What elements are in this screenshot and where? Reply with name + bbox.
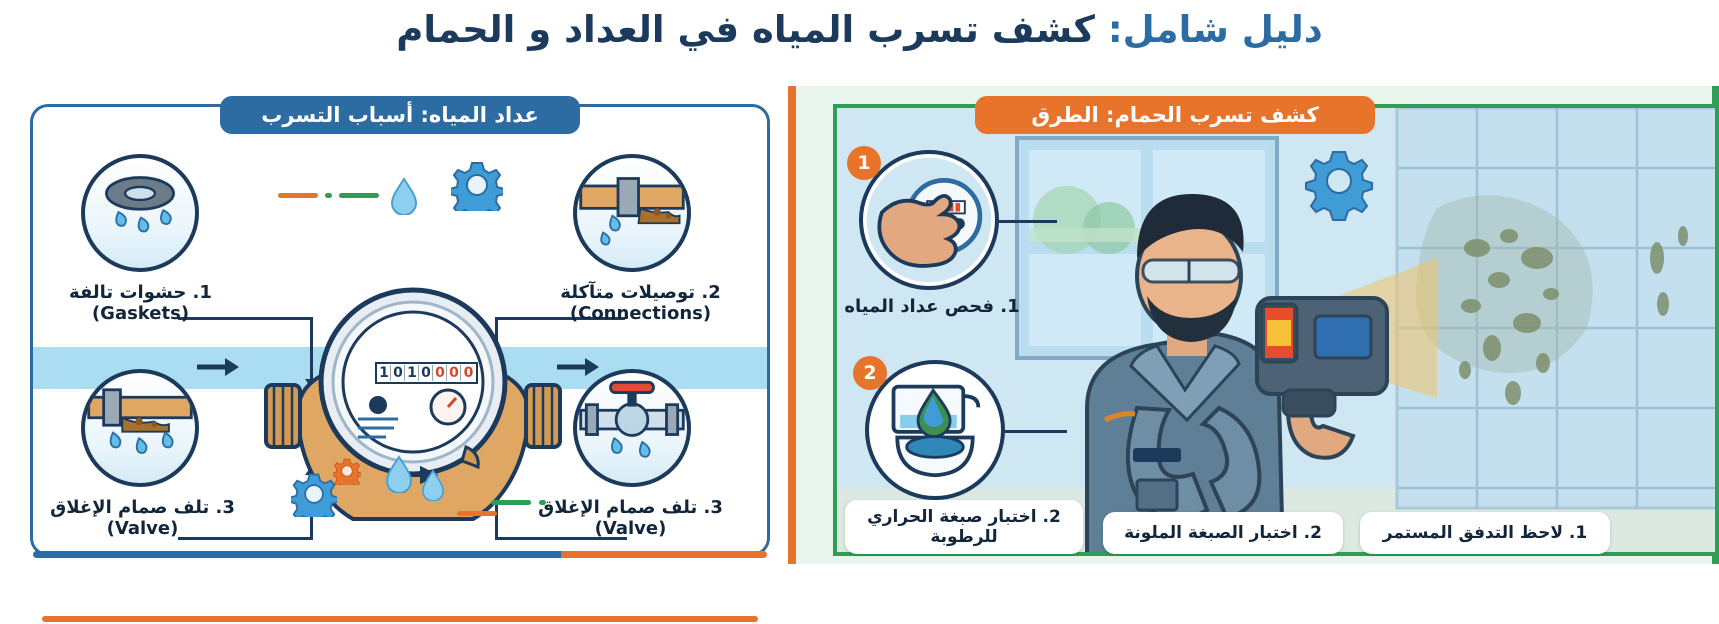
meter-causes-panel: 1 0 1 0 0 0 0 1. حشوات تالفة (Gaskets) xyxy=(30,104,770,556)
icon-bubble-connections xyxy=(573,154,691,272)
connector-step1 xyxy=(999,220,1057,223)
step-badge-2-text: 2 xyxy=(863,362,876,384)
odometer-digit: 0 xyxy=(462,365,475,381)
accent-bar-blue xyxy=(33,551,561,558)
gear-icon-right-panel xyxy=(1306,152,1372,220)
caption-connections-ar: 2. توصيلات متآكلة xyxy=(553,282,728,303)
caption-valve-left: 3. تلف صمام الإغلاق (Valve) xyxy=(35,497,250,539)
odometer-digit: 0 xyxy=(448,365,461,381)
left-panel-header-text: عداد المياه: أسباب التسرب xyxy=(261,103,538,127)
icon-bubble-gaskets xyxy=(81,154,199,272)
caption-connections: 2. توصيلات متآكلة (Connections) xyxy=(553,282,728,324)
caption-valve-left-ar: 3. تلف صمام الإغلاق xyxy=(35,497,250,518)
right-panel-header: كشف تسرب الحمام: الطرق xyxy=(975,96,1375,134)
hand-meter-icon xyxy=(863,154,995,286)
left-panel-header: عداد المياه: أسباب التسرب xyxy=(220,96,580,134)
step-badge-1: 1 xyxy=(847,146,881,180)
dash-green-top xyxy=(339,193,379,198)
left-panel-accent-bar xyxy=(33,551,767,558)
right-panel-orange-edge xyxy=(788,86,796,564)
corroded-pipe-icon xyxy=(577,158,687,268)
bottom-accent-stripe xyxy=(42,616,758,622)
odometer-digit: 0 xyxy=(420,365,433,381)
step-badge-1-text: 1 xyxy=(857,152,870,174)
dash-green-bottom xyxy=(491,500,531,505)
icon-bubble-check-meter xyxy=(859,150,999,290)
odometer-digit: 0 xyxy=(434,365,447,381)
meter-odometer: 1 0 1 0 0 0 0 xyxy=(375,362,478,384)
dash-dot-bottom xyxy=(539,500,546,505)
bottom-label-dye-thermal: 2. اختبار صبغة الحراري للرطوبة xyxy=(845,500,1083,554)
bathroom-scene: 1 1. فحص عداد المياه 2 xyxy=(833,104,1719,556)
toilet-dye-icon xyxy=(869,364,1001,496)
caption-check-meter: 1. فحص عداد المياه xyxy=(837,296,1027,317)
caption-valve-left-en: (Valve) xyxy=(35,518,250,539)
accent-bar-orange xyxy=(561,551,767,558)
gear-icon-bottom-orange xyxy=(333,457,361,485)
bottom-label-continuous-flow: 1. لاحظ التدفق المستمر xyxy=(1360,512,1610,554)
bottom-label-continuous-flow-text: 1. لاحظ التدفق المستمر xyxy=(1383,523,1587,543)
water-drop-icon-bottom-a xyxy=(385,455,413,493)
dash-dot-top xyxy=(325,193,332,198)
odometer-digit: 0 xyxy=(392,365,405,381)
gasket-ring-icon xyxy=(85,158,195,268)
corroded-joint-icon xyxy=(85,373,195,483)
gear-icon-top xyxy=(451,159,503,211)
water-drop-icon-top xyxy=(390,177,418,215)
dash-orange-bottom xyxy=(457,511,497,516)
caption-gaskets: 1. حشوات تالفة (Gaskets) xyxy=(53,282,228,324)
water-drop-icon-bottom-b xyxy=(421,469,445,501)
caption-connections-en: (Connections) xyxy=(553,303,728,324)
icon-bubble-valve-right xyxy=(573,369,691,487)
bottom-label-colored-dye-text: 2. اختبار الصبغة الملونة xyxy=(1124,523,1322,543)
dash-orange-top xyxy=(278,193,318,198)
page-title-prefix: دليل شامل: xyxy=(1108,8,1323,51)
connector-step2 xyxy=(1005,430,1067,433)
step-badge-2: 2 xyxy=(853,356,887,390)
bottom-label-dye-thermal-text: 2. اختبار صبغة الحراري للرطوبة xyxy=(855,507,1073,548)
icon-bubble-valve-left xyxy=(81,369,199,487)
flow-arrow-left-icon xyxy=(193,352,243,382)
gear-icon-bottom-blue xyxy=(291,471,337,517)
caption-gaskets-ar: 1. حشوات تالفة xyxy=(53,282,228,303)
odometer-digit: 1 xyxy=(378,365,391,381)
page-title-rest: كشف تسرب المياه في العداد و الحمام xyxy=(396,8,1108,51)
bottom-label-colored-dye: 2. اختبار الصبغة الملونة xyxy=(1103,512,1343,554)
caption-gaskets-en: (Gaskets) xyxy=(53,303,228,324)
odometer-digit: 1 xyxy=(406,365,419,381)
page-title: دليل شامل: كشف تسرب المياه في العداد و ا… xyxy=(0,8,1719,51)
caption-check-meter-text: 1. فحص عداد المياه xyxy=(844,296,1019,317)
right-panel-header-text: كشف تسرب الحمام: الطرق xyxy=(1031,103,1318,127)
caption-valve-right: 3. تلف صمام الإغلاق (Valve) xyxy=(523,497,738,539)
infographic-page: دليل شامل: كشف تسرب المياه في العداد و ا… xyxy=(0,0,1719,624)
caption-valve-right-en: (Valve) xyxy=(523,518,738,539)
caption-valve-right-ar: 3. تلف صمام الإغلاق xyxy=(523,497,738,518)
shutoff-valve-icon xyxy=(577,373,687,483)
icon-bubble-dye-test xyxy=(865,360,1005,500)
